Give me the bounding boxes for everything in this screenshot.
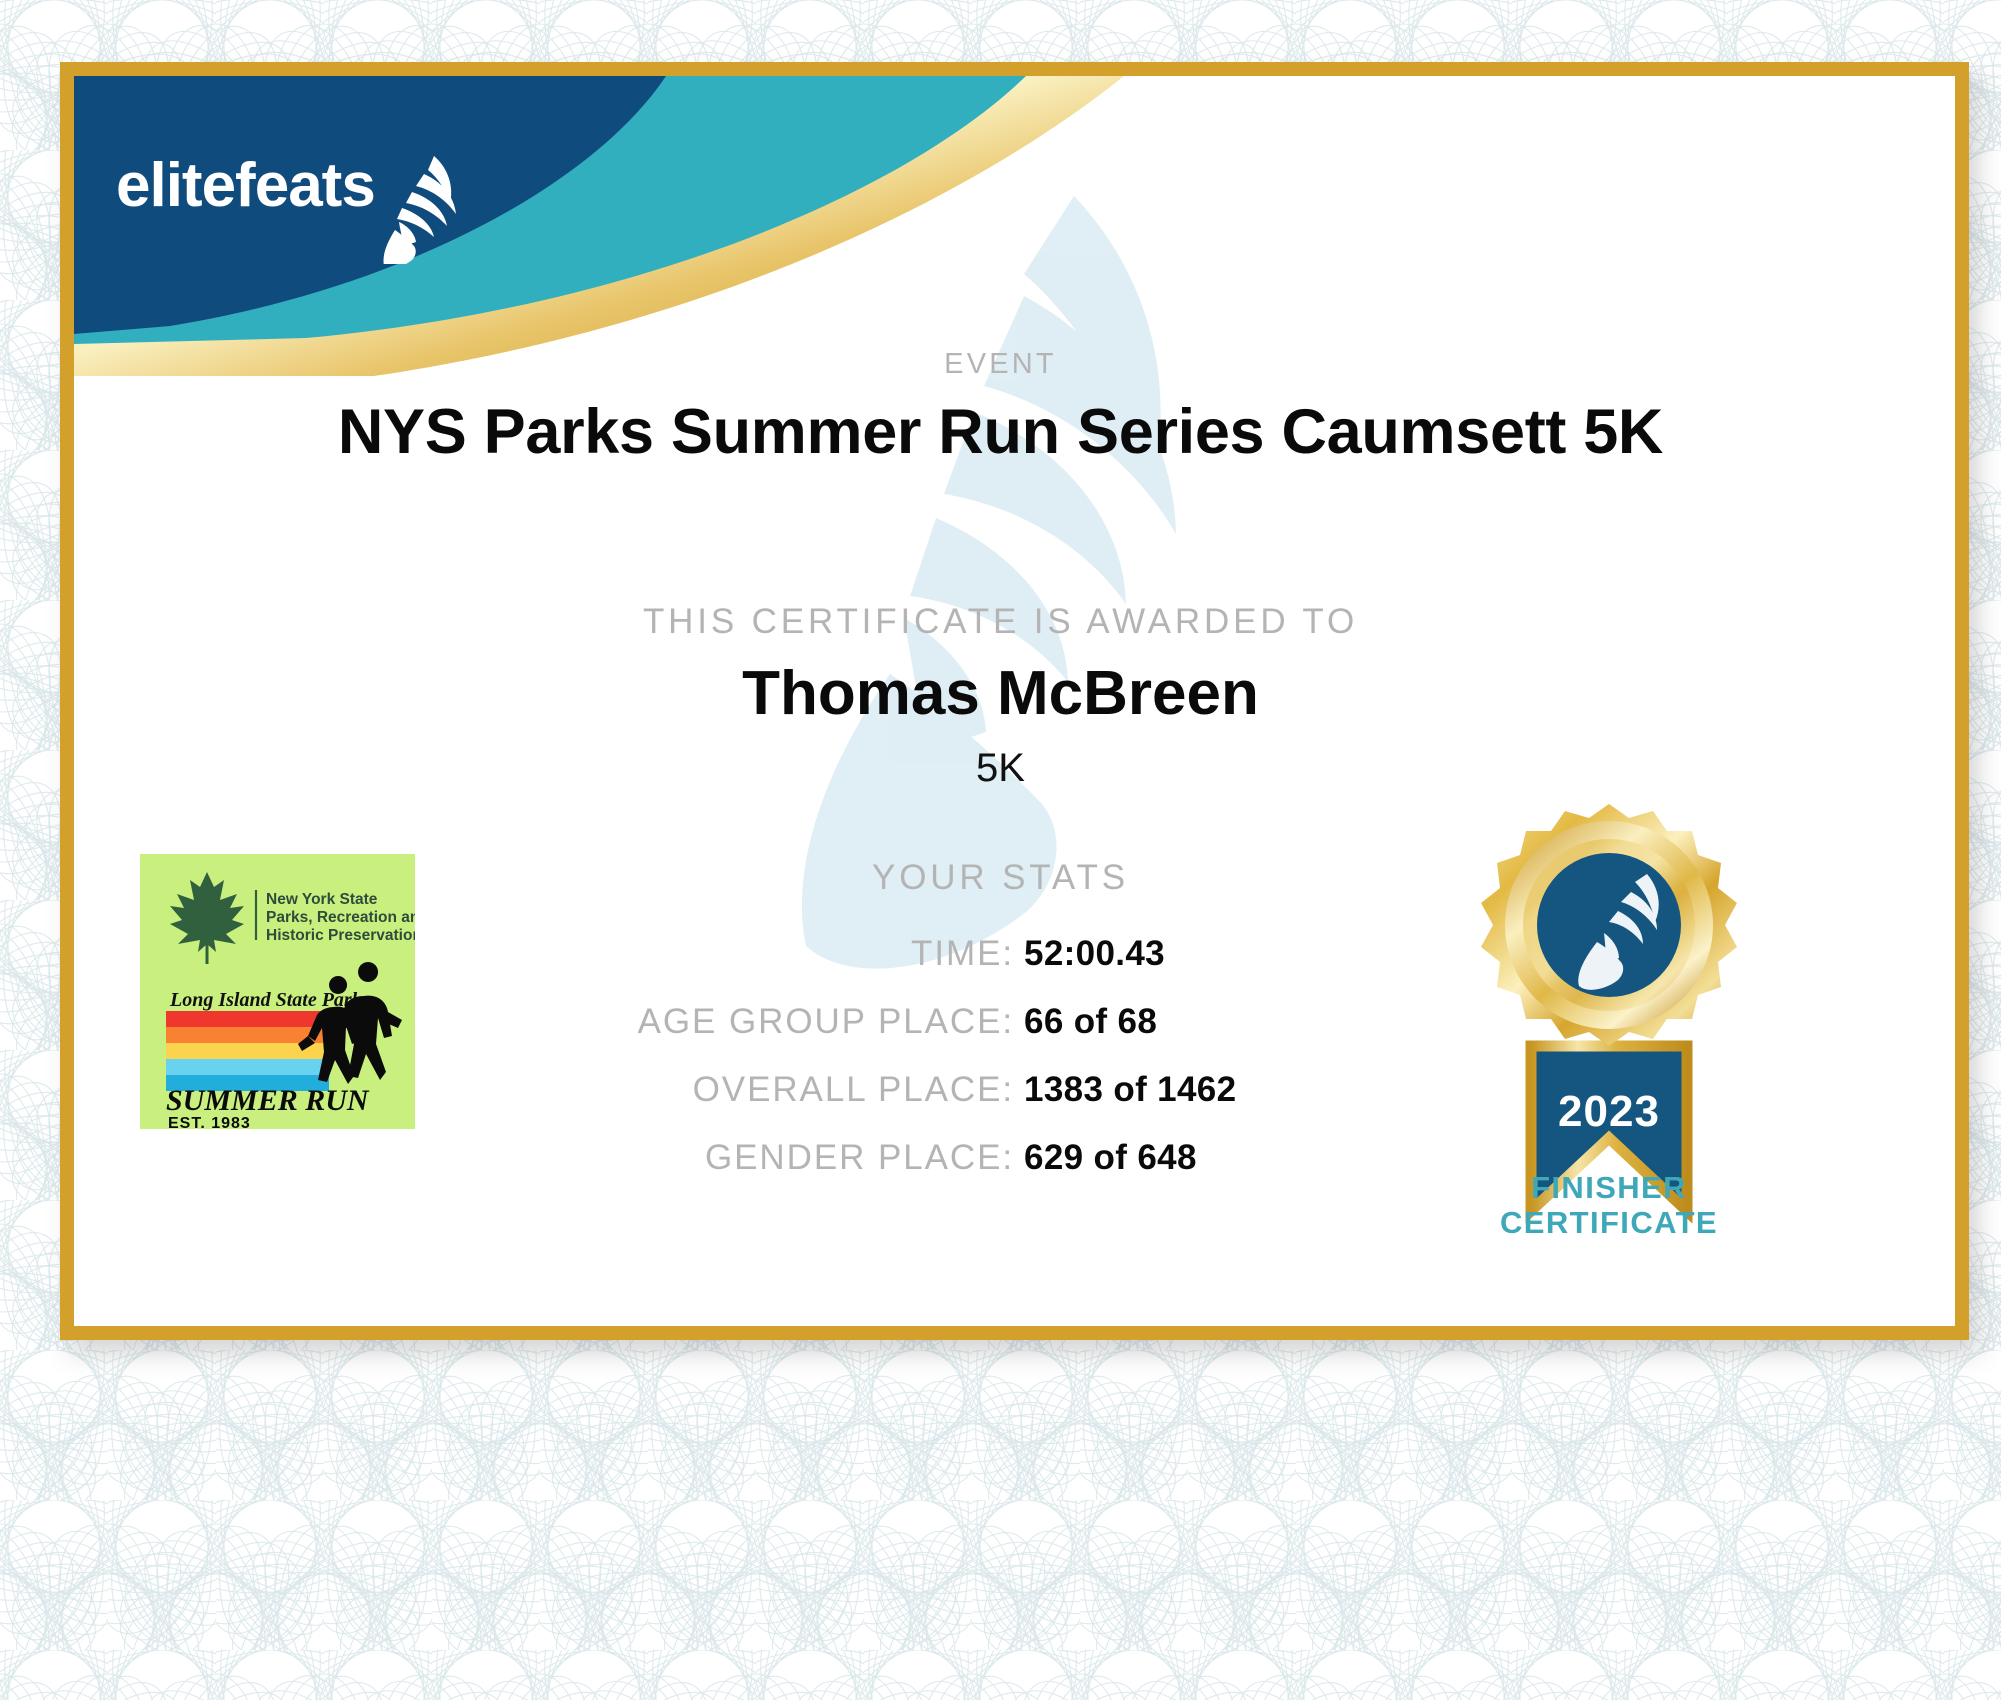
stat-value: 52:00.43 <box>1024 934 1165 974</box>
stat-value: 66 of 68 <box>1024 1002 1157 1042</box>
agency-line-2: Parks, Recreation and <box>266 909 415 926</box>
brand-logo: elitefeats <box>116 134 536 264</box>
badge-year: 2023 <box>1558 1087 1660 1136</box>
winged-foot-icon <box>383 156 456 264</box>
stat-value: 1383 of 1462 <box>1024 1070 1236 1110</box>
finisher-caption-line1: FINISHER <box>1454 1171 1764 1206</box>
finisher-caption: FINISHER CERTIFICATE <box>1454 1171 1764 1240</box>
agency-line-3: Historic Preservation <box>266 927 415 944</box>
event-label: EVENT <box>74 348 1927 381</box>
series-name: SUMMER RUN <box>166 1084 370 1117</box>
certificate-frame: elitefeats EVENT NYS Parks Summer Run Se… <box>60 62 1969 1340</box>
rainbow-stripes <box>166 1011 329 1091</box>
awarded-to-label: THIS CERTIFICATE IS AWARDED TO <box>74 602 1927 642</box>
series-est: EST. 1983 <box>168 1115 251 1129</box>
medal-disc <box>1481 804 1737 1046</box>
recipient-name: Thomas McBreen <box>74 658 1927 729</box>
stat-value: 629 of 648 <box>1024 1138 1197 1178</box>
svg-text:elitefeats: elitefeats <box>116 151 375 220</box>
nys-parks-summer-run-logo: New York State Parks, Recreation and His… <box>140 854 415 1129</box>
event-title: NYS Parks Summer Run Series Caumsett 5K <box>74 396 1927 468</box>
stat-label: GENDER PLACE: <box>74 1138 1024 1178</box>
finisher-caption-line2: CERTIFICATE <box>1454 1206 1764 1241</box>
agency-line-1: New York State <box>266 891 378 908</box>
recipient-distance: 5K <box>74 746 1927 791</box>
